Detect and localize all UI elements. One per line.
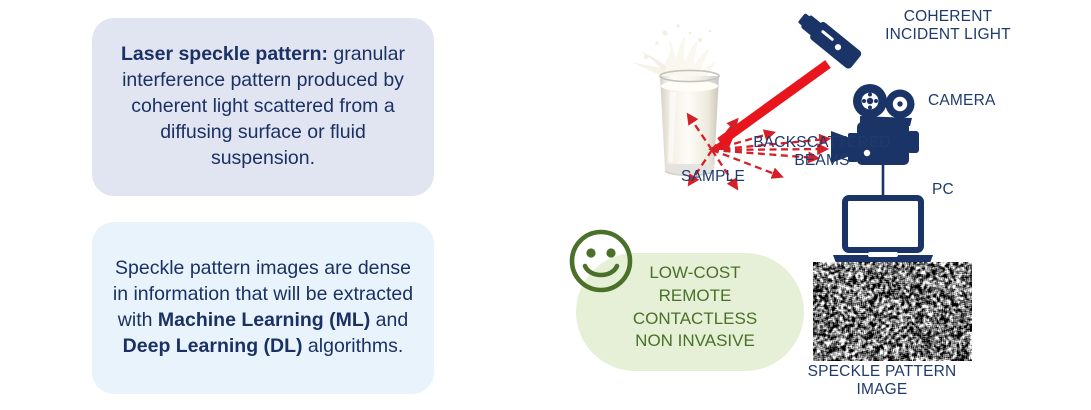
ml-bold-machine-learning: Machine Learning (ML) (158, 309, 370, 331)
ml-bold-deep-learning: Deep Learning (DL) (123, 335, 303, 357)
label-sample: SAMPLE (658, 168, 768, 186)
label-pc: PC (932, 181, 982, 199)
label-backscattered-beams: BACKSCATTERED BEAMS (732, 134, 912, 171)
laser-beam (720, 64, 828, 142)
machine-learning-text: Speckle pattern images are dense in info… (112, 256, 414, 360)
benefits-text: LOW-COST REMOTE CONTACTLESS NON INVASIVE (602, 262, 788, 353)
laser-speckle-bold-lead: Laser speckle pattern: (121, 43, 328, 65)
machine-learning-panel: Speckle pattern images are dense in info… (92, 222, 434, 394)
laser-speckle-definition-text: Laser speckle pattern: granular interfer… (114, 42, 412, 172)
label-coherent-incident-light: COHERENT INCIDENT LIGHT (858, 8, 1038, 45)
optical-setup-diagram: COHERENT INCIDENT LIGHT CAMERA BACKSCATT… (540, 0, 1091, 410)
label-speckle-pattern-image: SPECKLE PATTERN IMAGE (772, 363, 992, 400)
laser-speckle-definition-panel: Laser speckle pattern: granular interfer… (92, 18, 434, 196)
laser-pointer-icon (795, 9, 863, 70)
milk-glass-sample-icon (632, 24, 719, 176)
label-camera: CAMERA (928, 92, 1024, 110)
laptop-pc-icon (833, 198, 933, 263)
speckle-pattern-image (813, 262, 972, 361)
ml-part-2: and (370, 309, 408, 331)
ml-part-3: algorithms. (303, 335, 404, 357)
